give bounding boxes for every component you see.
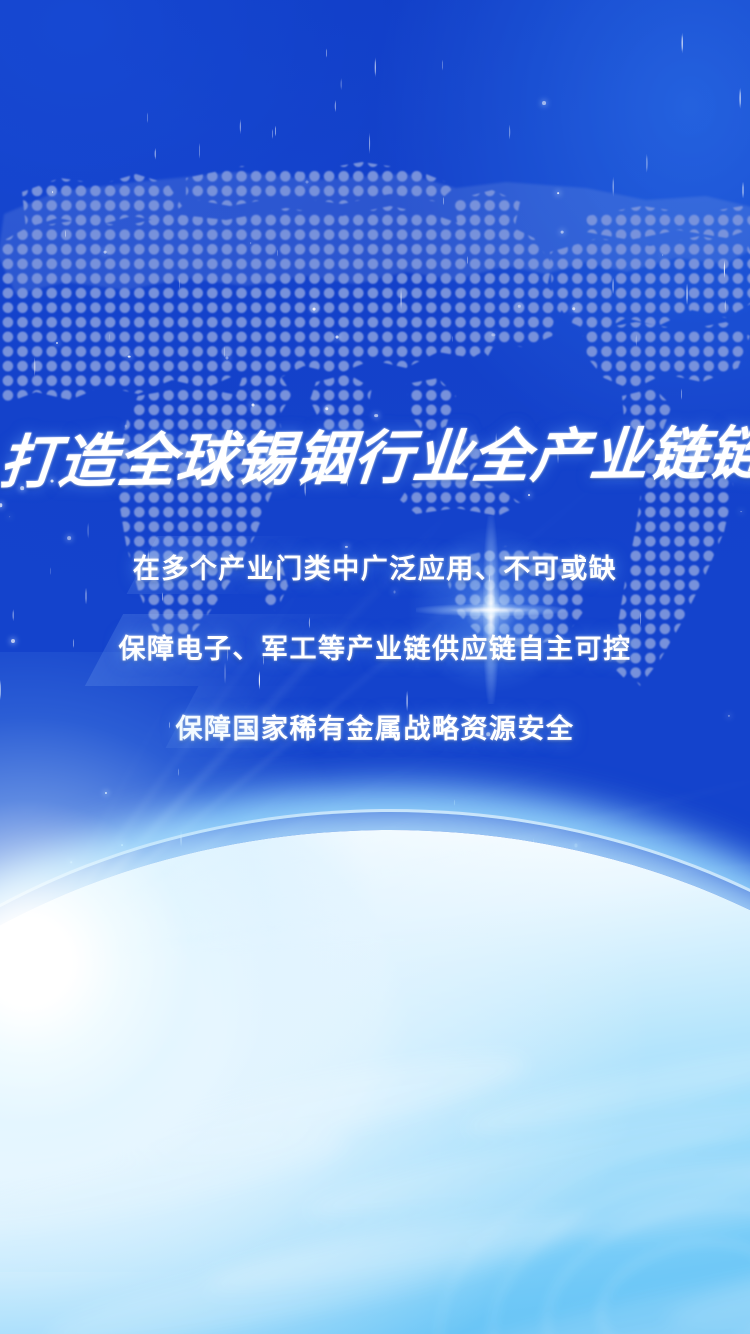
sparkle-icon bbox=[399, 284, 404, 314]
earth-cloud-layer bbox=[0, 830, 750, 1334]
sparkle-icon bbox=[32, 353, 36, 381]
star-icon bbox=[561, 231, 564, 234]
sparkle-icon bbox=[334, 97, 337, 114]
sparkle-icon bbox=[453, 798, 456, 808]
sparkle-icon bbox=[742, 178, 746, 203]
star-icon bbox=[250, 243, 252, 245]
sparkle-icon bbox=[722, 256, 726, 282]
star-icon bbox=[121, 844, 123, 846]
star-icon bbox=[313, 308, 316, 311]
poster-title: 打造全球锡铟行业全产业链链主 bbox=[0, 419, 750, 497]
star-icon bbox=[572, 307, 576, 311]
sparkle-icon bbox=[86, 519, 90, 543]
star-icon bbox=[741, 511, 743, 513]
star-icon bbox=[52, 191, 54, 193]
star-icon bbox=[345, 545, 347, 547]
star-icon bbox=[128, 355, 131, 358]
star-icon bbox=[0, 503, 2, 506]
sparkle-icon bbox=[451, 334, 454, 343]
sparkle-icon bbox=[466, 254, 469, 266]
sparkle-icon bbox=[680, 386, 683, 402]
sparkle-icon bbox=[680, 29, 685, 58]
star-icon bbox=[67, 536, 71, 540]
star-icon bbox=[492, 333, 495, 336]
star-icon bbox=[518, 305, 520, 307]
poster-subtitle-line-3: 保障国家稀有金属战略资源安全 bbox=[0, 716, 750, 743]
poster-subtitle-line-2: 保障电子、军工等产业链供应链自主可控 bbox=[0, 636, 750, 663]
sparkle-icon bbox=[178, 276, 181, 292]
sparkle-icon bbox=[645, 150, 649, 176]
star-icon bbox=[225, 357, 228, 360]
sparkle-icon bbox=[442, 195, 445, 207]
star-icon bbox=[252, 403, 255, 406]
sparkle-icon bbox=[724, 297, 727, 314]
star-icon bbox=[9, 516, 11, 518]
star-icon bbox=[374, 414, 378, 418]
poster-canvas: 打造全球锡铟行业全产业链链主 在多个产业门类中广泛应用、不可或缺 保障电子、军工… bbox=[0, 0, 750, 1334]
star-icon bbox=[557, 193, 559, 195]
sparkle-icon bbox=[179, 826, 183, 850]
sparkle-icon bbox=[275, 124, 278, 139]
sparkle-icon bbox=[737, 83, 742, 113]
sparkle-icon bbox=[198, 140, 202, 162]
sparkle-icon bbox=[65, 228, 68, 239]
sparkle-icon bbox=[154, 145, 157, 162]
sparkle-icon bbox=[635, 332, 638, 349]
sparkle-icon bbox=[276, 248, 279, 258]
sparkle-icon bbox=[271, 127, 274, 141]
sparkle-icon bbox=[108, 332, 111, 342]
sparkle-icon bbox=[611, 274, 615, 298]
sparkle-icon bbox=[508, 122, 511, 143]
star-icon bbox=[56, 342, 58, 344]
star-icon bbox=[325, 407, 328, 410]
sparkle-icon bbox=[146, 110, 149, 126]
sparkle-icon bbox=[239, 116, 242, 138]
sparkle-icon bbox=[685, 279, 690, 310]
star-icon bbox=[335, 336, 338, 339]
sparkle-icon bbox=[340, 76, 343, 94]
poster-subtitle-group: 在多个产业门类中广泛应用、不可或缺 保障电子、军工等产业链供应链自主可控 保障国… bbox=[0, 556, 750, 743]
sparkle-icon bbox=[441, 57, 444, 72]
star-icon bbox=[105, 792, 107, 794]
star-icon bbox=[662, 255, 664, 257]
sparkle-icon bbox=[325, 47, 328, 60]
star-icon bbox=[305, 180, 308, 183]
poster-subtitle-line-1: 在多个产业门类中广泛应用、不可或缺 bbox=[0, 556, 750, 583]
star-icon bbox=[575, 844, 578, 847]
star-icon bbox=[542, 101, 546, 105]
sparkle-icon bbox=[611, 172, 616, 201]
star-icon bbox=[528, 494, 530, 496]
sparkle-icon bbox=[178, 767, 181, 778]
sparkle-icon bbox=[373, 54, 377, 82]
star-icon bbox=[104, 251, 107, 254]
star-icon bbox=[71, 861, 73, 863]
sparkle-icon bbox=[367, 129, 372, 158]
